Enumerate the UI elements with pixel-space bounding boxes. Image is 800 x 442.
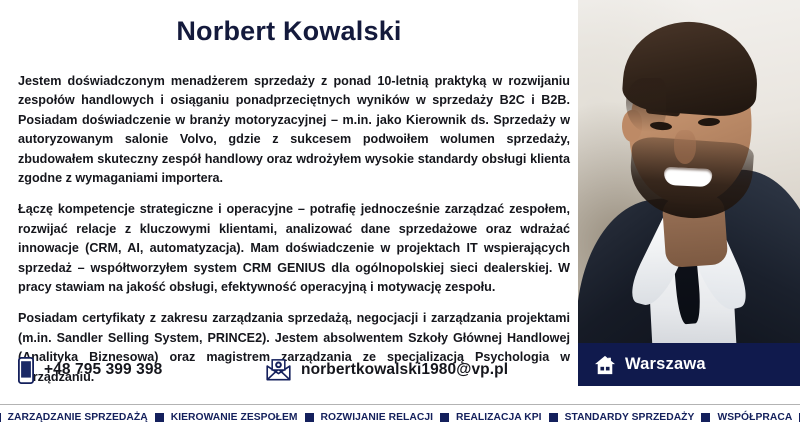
contact-row: +48 795 399 398 norbertkowalski1980@vp.p…: [18, 352, 570, 388]
portrait-photo: [578, 0, 800, 386]
location-badge: Warszawa: [578, 343, 800, 386]
hair-fade: [626, 78, 666, 132]
bullet-square-icon: [0, 413, 1, 422]
bio-section: Jestem doświadczonym menadżerem sprzedaż…: [18, 72, 570, 387]
keyword-item: WSPÓŁPRACA: [717, 412, 792, 423]
bullet-square-icon: [155, 413, 164, 422]
keyword-item: KIEROWANIE ZESPOŁEM: [171, 412, 298, 423]
location-label: Warszawa: [625, 355, 706, 374]
bio-paragraph: Jestem doświadczonym menadżerem sprzedaż…: [18, 72, 570, 188]
contact-email[interactable]: norbertkowalski1980@vp.pl: [266, 359, 508, 381]
keyword-strip: ZARZĄDZANIE SPRZEDAŻĄ KIEROWANIE ZESPOŁE…: [0, 412, 800, 423]
nose: [674, 130, 696, 164]
bio-paragraph: Łączę kompetencje strategiczne i operacy…: [18, 200, 570, 297]
bullet-square-icon: [305, 413, 314, 422]
bullet-square-icon: [701, 413, 710, 422]
keyword-item: STANDARDY SPRZEDAŻY: [565, 412, 695, 423]
photo-background: [578, 0, 800, 386]
phone-number: +48 795 399 398: [44, 361, 162, 379]
smartphone-icon: [18, 357, 34, 384]
bullet-square-icon: [440, 413, 449, 422]
keyword-item: REALIZACJA KPI: [456, 412, 542, 423]
house-icon: [594, 355, 616, 375]
contact-phone[interactable]: +48 795 399 398: [18, 357, 266, 384]
keyword-item: ROZWIJANIE RELACJI: [321, 412, 433, 423]
bullet-square-icon: [549, 413, 558, 422]
divider: [0, 404, 800, 405]
smile: [664, 167, 713, 187]
cv-profile-card: Warszawa Norbert Kowalski Jestem doświad…: [0, 0, 800, 442]
envelope-icon: [266, 359, 291, 381]
keyword-item: ZARZĄDZANIE SPRZEDAŻĄ: [8, 412, 148, 423]
page-title: Norbert Kowalski: [0, 16, 578, 47]
email-address: norbertkowalski1980@vp.pl: [301, 361, 508, 379]
